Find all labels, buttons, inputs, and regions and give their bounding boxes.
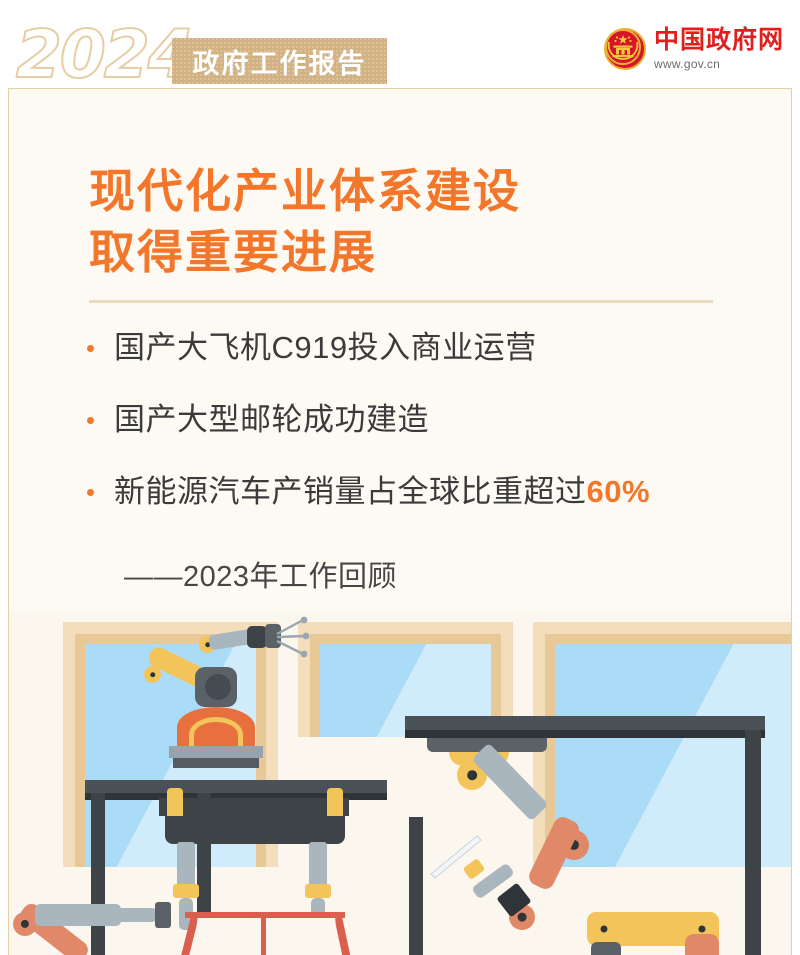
robot-base-plate	[169, 746, 263, 758]
list-item: 国产大飞机C919投入商业运营	[87, 329, 727, 368]
car-window-front	[192, 918, 259, 955]
list-item: 新能源汽车产销量占全球比重超过60%	[87, 473, 727, 512]
list-item-text: 新能源汽车产销量占全球比重超过	[114, 474, 587, 509]
robot-arm-gray-left-piston	[35, 904, 121, 926]
bullet-dot-icon	[87, 345, 94, 352]
carrier-collar-left	[173, 884, 199, 898]
china-national-emblem-icon	[604, 28, 646, 70]
car-window-rear	[267, 918, 339, 955]
robot-arm-gray-left-rod	[117, 908, 157, 922]
robot-elbow-cap	[205, 674, 231, 700]
robot-clamp-left	[155, 902, 171, 928]
title-divider	[89, 300, 713, 303]
year-outline-text: 2024	[16, 22, 192, 88]
gantry-right-post	[745, 730, 761, 955]
robot-base-plate-dark	[173, 758, 259, 768]
gantry-right-beam	[405, 716, 765, 730]
logo-text-group: 中国政府网 www.gov.cn	[654, 28, 784, 70]
page-header: 2024 政府工作报告	[0, 0, 800, 90]
infographic-page: 2024 政府工作报告	[0, 0, 800, 955]
site-name: 中国政府网	[654, 28, 784, 53]
carrier-collar-right	[305, 884, 331, 898]
attribution-note: ——2023年工作回顾	[124, 553, 397, 595]
gripper-head-housing	[591, 942, 621, 955]
gripper-arm-vertical	[685, 934, 719, 955]
list-item-highlight-value: 60%	[587, 474, 651, 509]
car-cabin-pillar-mid	[261, 912, 266, 955]
report-banner: 政府工作报告	[172, 38, 387, 84]
robot-joint-yellow-1	[144, 666, 161, 683]
list-item-label: 国产大型邮轮成功建造	[114, 401, 429, 440]
robot-wrist-dark	[247, 626, 267, 648]
factory-illustration	[9, 612, 791, 955]
site-logo[interactable]: 中国政府网 www.gov.cn	[604, 28, 784, 70]
robot-gripper-fingers-icon	[275, 616, 315, 658]
list-item-label: 新能源汽车产销量占全球比重超过60%	[114, 473, 650, 512]
bullet-dot-icon	[87, 489, 94, 496]
list-item: 国产大型邮轮成功建造	[87, 401, 727, 440]
gripper-joint-left	[593, 918, 615, 940]
highlights-list: 国产大飞机C919投入商业运营 国产大型邮轮成功建造 新能源汽车产销量占全球比重…	[87, 329, 727, 544]
carrier-frame	[159, 798, 349, 816]
carrier-body	[165, 816, 345, 844]
robot-base-dome	[177, 707, 255, 747]
welder-torch-tip-icon	[429, 834, 485, 886]
page-title: 现代化产业体系建设 取得重要进展	[89, 161, 521, 282]
list-item-label: 国产大飞机C919投入商业运营	[114, 329, 537, 368]
gantry-right-post-2	[409, 817, 423, 955]
robot-joint-orange-left-1	[13, 912, 37, 936]
gantry-left-post	[91, 793, 105, 955]
banner-label: 政府工作报告	[193, 42, 367, 81]
site-url: www.gov.cn	[654, 58, 784, 70]
gantry-right-beam-shadow	[405, 730, 765, 738]
content-frame: 现代化产业体系建设 取得重要进展 国产大飞机C919投入商业运营 国产大型邮轮成…	[8, 88, 792, 955]
title-line-2: 取得重要进展	[89, 222, 521, 283]
bullet-dot-icon	[87, 417, 94, 424]
title-line-1: 现代化产业体系建设	[89, 161, 521, 222]
